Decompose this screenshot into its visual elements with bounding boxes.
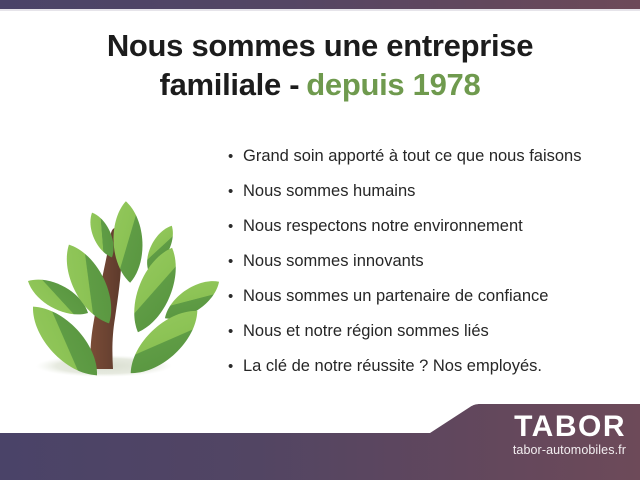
brand-website: tabor-automobiles.fr [436,443,626,458]
headline-accent-year: depuis 1978 [306,67,480,102]
list-item-label: Nous sommes un partenaire de confiance [243,288,548,305]
list-item-label: Nous sommes humains [243,183,415,200]
list-item: • Nous respectons notre environnement [228,218,628,253]
list-item-label: Nous respectons notre environnement [243,218,523,235]
bullet-marker-icon: • [228,149,243,164]
list-item: • Nous sommes innovants [228,253,628,288]
top-accent-bar [0,0,640,9]
top-bar-hairline [0,9,640,11]
headline-line-2-main: familiale - [160,67,300,102]
benefits-list: • Grand soin apporté à tout ce que nous … [228,148,628,393]
list-item-label: La clé de notre réussite ? Nos employés. [243,358,542,375]
list-item-label: Grand soin apporté à tout ce que nous fa… [243,148,581,165]
bullet-marker-icon: • [228,254,243,269]
list-item: • Nous sommes un partenaire de confiance [228,288,628,323]
headline-line-1: Nous sommes une entreprise [0,26,640,65]
bullet-marker-icon: • [228,184,243,199]
brand-logo[interactable]: TABOR tabor-automobiles.fr [436,411,626,458]
bullet-marker-icon: • [228,324,243,339]
footer-band: TABOR tabor-automobiles.fr [0,398,640,480]
bullet-marker-icon: • [228,359,243,374]
brand-wordmark: TABOR [436,411,626,442]
slide-canvas: Nous sommes une entreprise familiale -de… [0,0,640,480]
bullet-marker-icon: • [228,289,243,304]
tree-illustration [12,150,220,386]
list-item: • Nous sommes humains [228,183,628,218]
list-item: • Grand soin apporté à tout ce que nous … [228,148,628,183]
list-item: • Nous et notre région sommes liés [228,323,628,358]
headline-line-2: familiale -depuis 1978 [0,65,640,104]
list-item-label: Nous sommes innovants [243,253,424,270]
list-item-label: Nous et notre région sommes liés [243,323,489,340]
bullet-marker-icon: • [228,219,243,234]
list-item: • La clé de notre réussite ? Nos employé… [228,358,628,393]
page-title: Nous sommes une entreprise familiale -de… [0,26,640,104]
